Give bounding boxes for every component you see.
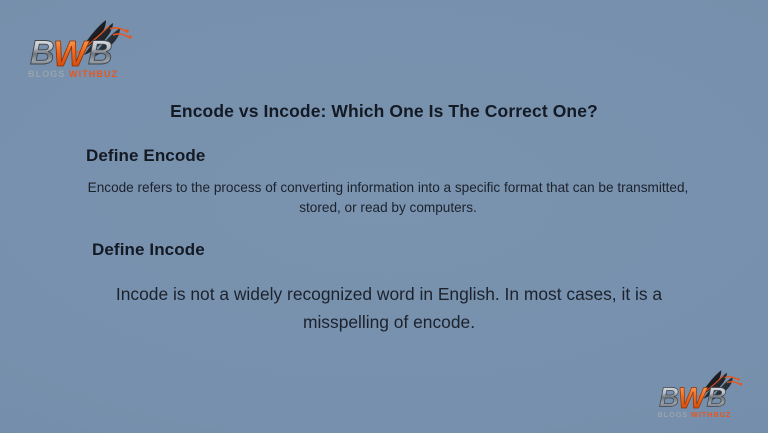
- section-heading-define-incode: Define Incode: [92, 240, 205, 260]
- section-body-define-incode: Incode is not a widely recognized word i…: [84, 280, 694, 336]
- logo-tagline: BLOGS WITHBUZ: [28, 69, 118, 79]
- svg-text:B: B: [659, 381, 679, 412]
- svg-text:WITHBUZ: WITHBUZ: [691, 410, 731, 419]
- page-title: Encode vs Incode: Which One Is The Corre…: [0, 101, 768, 122]
- section-body-define-encode: Encode refers to the process of converti…: [84, 178, 692, 218]
- bwb-logo-icon-small: B W B BLOGS WITHBUZ: [646, 367, 754, 421]
- brand-logo-bottom-right[interactable]: B W B BLOGS WITHBUZ: [646, 367, 754, 421]
- svg-text:B: B: [707, 381, 727, 412]
- svg-text:B: B: [30, 34, 55, 72]
- logo-inner: B W B BLOGS WITHBUZ: [14, 16, 146, 82]
- brand-logo-top-left[interactable]: B W B BLOGS WITHBUZ: [14, 16, 146, 82]
- svg-text:BLOGS: BLOGS: [28, 69, 66, 79]
- svg-text:BLOGS: BLOGS: [657, 410, 688, 419]
- slide-canvas: B W B BLOGS WITHBUZ Encode vs Incode: Wh…: [0, 0, 768, 433]
- logo-inner-bottom: B W B BLOGS WITHBUZ: [646, 367, 754, 421]
- svg-text:WITHBUZ: WITHBUZ: [69, 69, 118, 79]
- section-heading-define-encode: Define Encode: [86, 146, 205, 166]
- bwb-logo-icon: B W B BLOGS WITHBUZ: [14, 16, 146, 82]
- logo-tagline-small: BLOGS WITHBUZ: [657, 410, 731, 419]
- svg-text:B: B: [88, 34, 113, 72]
- bwb-wordmark: B W B: [30, 33, 113, 74]
- svg-text:W: W: [53, 33, 90, 74]
